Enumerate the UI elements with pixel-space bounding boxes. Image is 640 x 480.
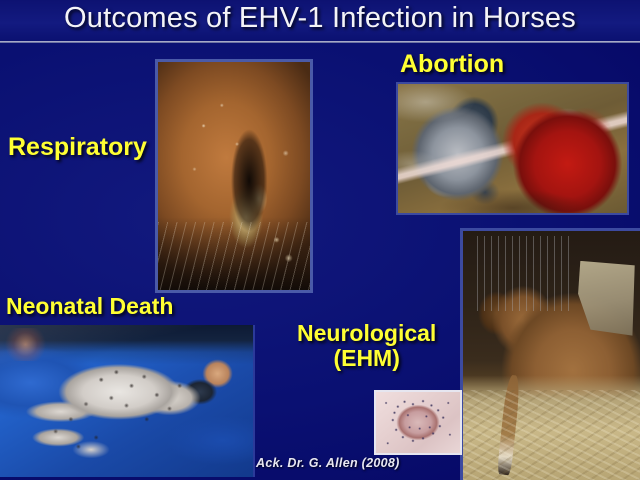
histopathology-image-nuclei <box>376 392 460 453</box>
label-neonatal-death: Neonatal Death <box>6 294 173 319</box>
respiratory-image <box>155 59 313 293</box>
label-neurological-line1: Neurological <box>297 320 436 346</box>
presentation-slide: Outcomes of EHV-1 Infection in Horses Re… <box>0 0 640 480</box>
neonatal-death-image-lamp-glow <box>5 328 45 361</box>
neonatal-death-image <box>0 325 255 477</box>
neurological-image <box>460 228 640 480</box>
neurological-image-bedding <box>463 390 640 480</box>
label-neurological-line2: (EHM) <box>297 346 436 371</box>
attribution-text: Ack. Dr. G. Allen (2008) <box>256 456 400 470</box>
abortion-image <box>396 82 629 215</box>
page-title: Outcomes of EHV-1 Infection in Horses <box>0 2 640 35</box>
label-respiratory: Respiratory <box>8 134 147 161</box>
label-neurological: Neurological (EHM) <box>297 321 436 371</box>
histopathology-image <box>374 390 462 455</box>
neurological-image-stall-bars <box>477 236 569 311</box>
respiratory-image-whiskers <box>158 222 310 290</box>
abortion-image-floor-sheen <box>398 84 627 213</box>
title-divider <box>0 41 640 43</box>
label-abortion: Abortion <box>400 51 504 78</box>
